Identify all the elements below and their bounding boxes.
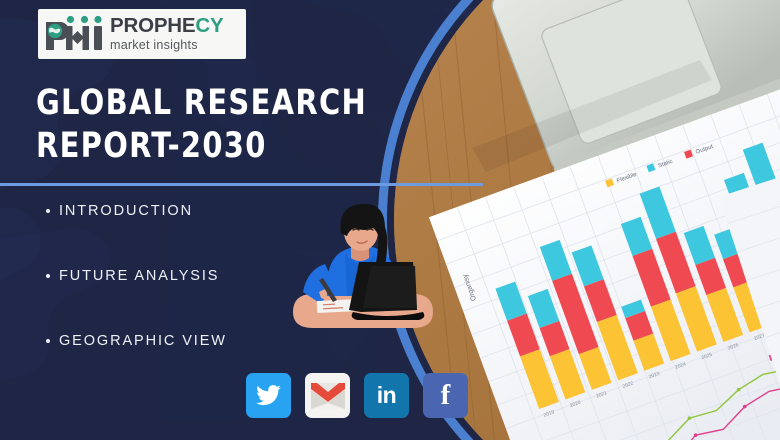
page-title: GLOBAL RESEARCH REPORT-2030 [36,82,422,168]
woman-working-on-laptop-illustration [283,200,443,340]
gmail-envelope-icon [311,383,345,409]
list-item-label: FUTURE ANALYSIS [59,268,219,284]
logo-tagline: market insights [110,39,223,52]
title-divider [0,183,483,186]
list-item-label: GEOGRAPHIC VIEW [59,333,227,349]
list-item-label: INTRODUCTION [59,203,193,219]
twitter-link[interactable] [246,373,291,418]
social-links: in f [246,373,468,418]
pmi-logo[interactable]: PROPHECY market insights [38,9,246,59]
bullet-dot-icon [46,209,50,213]
logo-brand-name-accent: CY [195,14,223,37]
facebook-link[interactable]: f [423,373,468,418]
list-item[interactable]: GEOGRAPHIC VIEW [46,330,306,352]
bullet-dot-icon [46,274,50,278]
logo-wordmark: PROPHECY market insights [110,16,223,51]
linkedin-in-icon: in [377,382,396,409]
page-title-line-1: GLOBAL RESEARCH [36,82,422,125]
agenda-list: INTRODUCTION FUTURE ANALYSIS GEOGRAPHIC … [46,200,306,395]
pmi-globe-logo-icon [44,14,106,54]
twitter-bird-icon [255,382,282,409]
bullet-dot-icon [46,339,50,343]
list-item[interactable]: INTRODUCTION [46,200,306,222]
research-report-banner: Flexible Static Output Organisy [0,0,780,440]
gmail-link[interactable] [305,373,350,418]
linkedin-link[interactable]: in [364,373,409,418]
page-title-line-2: REPORT-2030 [36,125,422,168]
list-item[interactable]: FUTURE ANALYSIS [46,265,306,287]
logo-brand-name-dark: PROPHE [110,14,195,37]
logo-brand-name: PROPHECY [110,16,223,37]
facebook-f-icon: f [441,379,451,412]
